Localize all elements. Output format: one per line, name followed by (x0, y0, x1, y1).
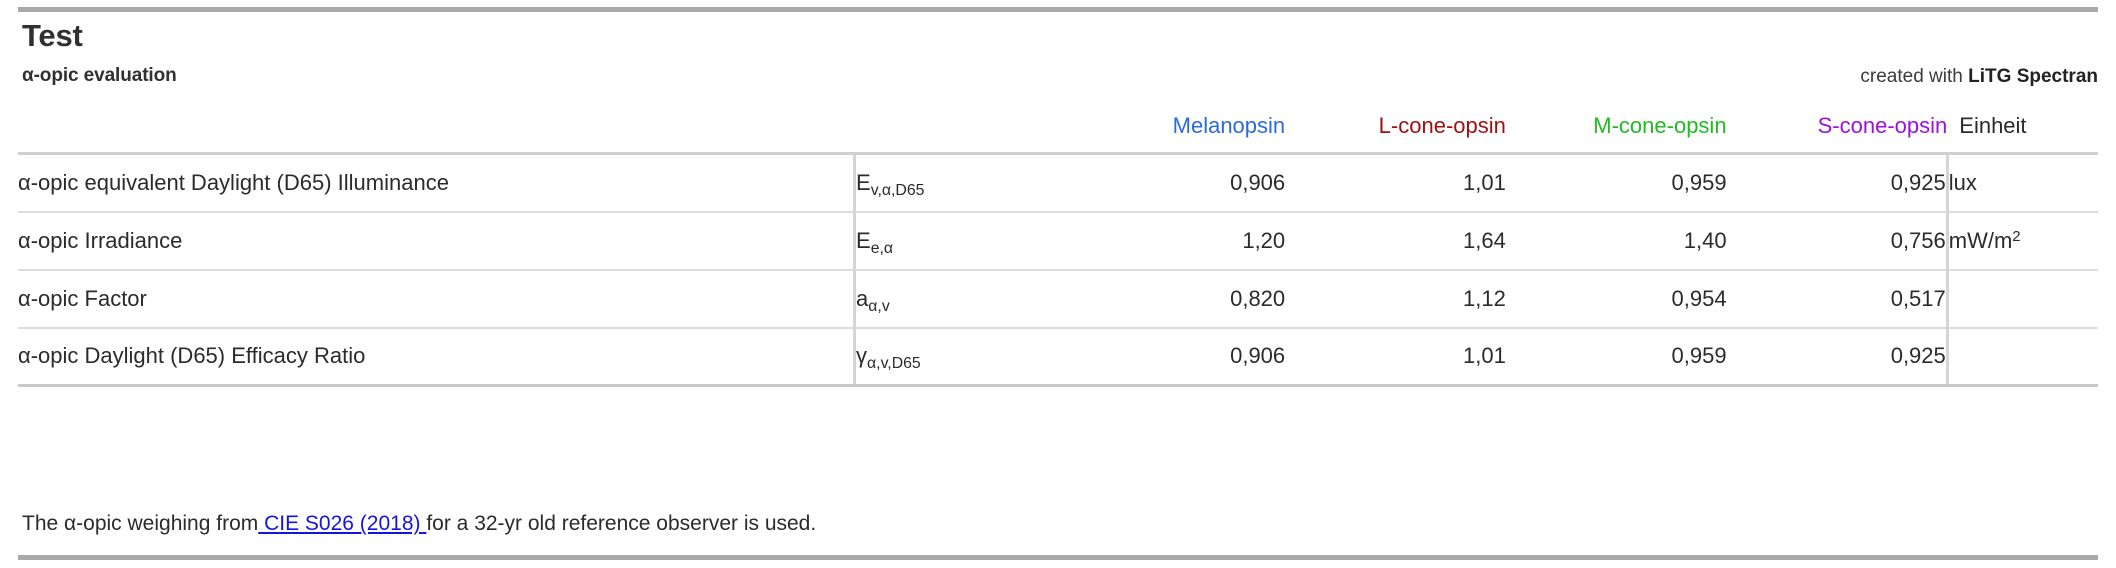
footnote-after: for a 32-yr old reference observer is us… (426, 512, 816, 535)
header-l-cone-opsin: L-cone-opsin (1285, 100, 1506, 154)
cell-s-cone-opsin: 0,925 (1727, 154, 1948, 212)
cell-m-cone-opsin: 0,959 (1506, 328, 1727, 386)
table-row: α-opic equivalent Daylight (D65) Illumin… (18, 154, 2098, 212)
report-content: Test α-opic evaluation created with LiTG… (18, 12, 2098, 555)
header-symbol-blank (855, 100, 1065, 154)
report-subtitle: α-opic evaluation (22, 65, 177, 86)
header-melanopsin: Melanopsin (1064, 100, 1285, 154)
cell-l-cone-opsin: 1,12 (1285, 270, 1506, 328)
cell-melanopsin: 0,906 (1064, 328, 1285, 386)
cell-melanopsin: 0,906 (1064, 154, 1285, 212)
symbol-base: E (856, 228, 871, 253)
page-title: Test (22, 19, 2098, 53)
alpha-opic-table: Melanopsin L-cone-opsin M-cone-opsin S-c… (18, 100, 2098, 387)
cell-m-cone-opsin: 0,954 (1506, 270, 1727, 328)
row-symbol: Ee,α (855, 212, 1065, 270)
row-label: α-opic Daylight (D65) Efficacy Ratio (18, 328, 855, 386)
symbol-base: a (856, 286, 868, 311)
symbol-subscript: α,v (868, 298, 889, 315)
symbol-base: γ (856, 343, 867, 368)
cell-m-cone-opsin: 1,40 (1506, 212, 1727, 270)
cell-l-cone-opsin: 1,01 (1285, 328, 1506, 386)
symbol-base: E (856, 170, 871, 195)
subtitle-row: α-opic evaluation created with LiTG Spec… (22, 65, 2098, 89)
created-with-credit: created with LiTG Spectran (1860, 66, 2098, 88)
header-label-blank (18, 100, 855, 154)
cell-s-cone-opsin: 0,756 (1727, 212, 1948, 270)
cell-l-cone-opsin: 1,64 (1285, 212, 1506, 270)
cell-l-cone-opsin: 1,01 (1285, 154, 1506, 212)
row-symbol: aα,v (855, 270, 1065, 328)
cell-unit: lux (1947, 154, 2098, 212)
cell-melanopsin: 1,20 (1064, 212, 1285, 270)
table-row: α-opic Irradiance Ee,α 1,20 1,64 1,40 0,… (18, 212, 2098, 270)
table-body: α-opic equivalent Daylight (D65) Illumin… (18, 154, 2098, 386)
table-header-row: Melanopsin L-cone-opsin M-cone-opsin S-c… (18, 100, 2098, 154)
unit-base: lux (1949, 170, 1977, 195)
row-symbol: Ev,α,D65 (855, 154, 1065, 212)
cell-unit (1947, 270, 2098, 328)
cell-melanopsin: 0,820 (1064, 270, 1285, 328)
cell-s-cone-opsin: 0,517 (1727, 270, 1948, 328)
table-header: Melanopsin L-cone-opsin M-cone-opsin S-c… (18, 100, 2098, 154)
symbol-subscript: α,v,D65 (867, 355, 921, 372)
symbol-subscript: e,α (871, 240, 893, 257)
unit-base: mW/m (1949, 228, 2013, 253)
table-row: α-opic Daylight (D65) Efficacy Ratio γα,… (18, 328, 2098, 386)
credit-brand: LiTG Spectran (1968, 66, 2098, 87)
alpha-opic-report-page: Test α-opic evaluation created with LiTG… (0, 0, 2116, 568)
row-symbol: γα,v,D65 (855, 328, 1065, 386)
row-label: α-opic Irradiance (18, 212, 855, 270)
cie-s026-link[interactable]: CIE S026 (2018) (258, 512, 426, 535)
footnote: The α-opic weighing from CIE S026 (2018)… (22, 512, 2098, 536)
table-row: α-opic Factor aα,v 0,820 1,12 0,954 0,51… (18, 270, 2098, 328)
row-label: α-opic equivalent Daylight (D65) Illumin… (18, 154, 855, 212)
header-einheit: Einheit (1947, 100, 2098, 154)
bottom-rule (18, 555, 2098, 560)
row-label: α-opic Factor (18, 270, 855, 328)
cell-m-cone-opsin: 0,959 (1506, 154, 1727, 212)
cell-unit: mW/m2 (1947, 212, 2098, 270)
cell-s-cone-opsin: 0,925 (1727, 328, 1948, 386)
footnote-before: The α-opic weighing from (22, 512, 258, 535)
header-s-cone-opsin: S-cone-opsin (1727, 100, 1948, 154)
header-m-cone-opsin: M-cone-opsin (1506, 100, 1727, 154)
cell-unit (1947, 328, 2098, 386)
symbol-subscript: v,α,D65 (871, 182, 925, 199)
credit-prefix: created with (1860, 66, 1968, 87)
unit-exponent: 2 (2012, 228, 2020, 245)
